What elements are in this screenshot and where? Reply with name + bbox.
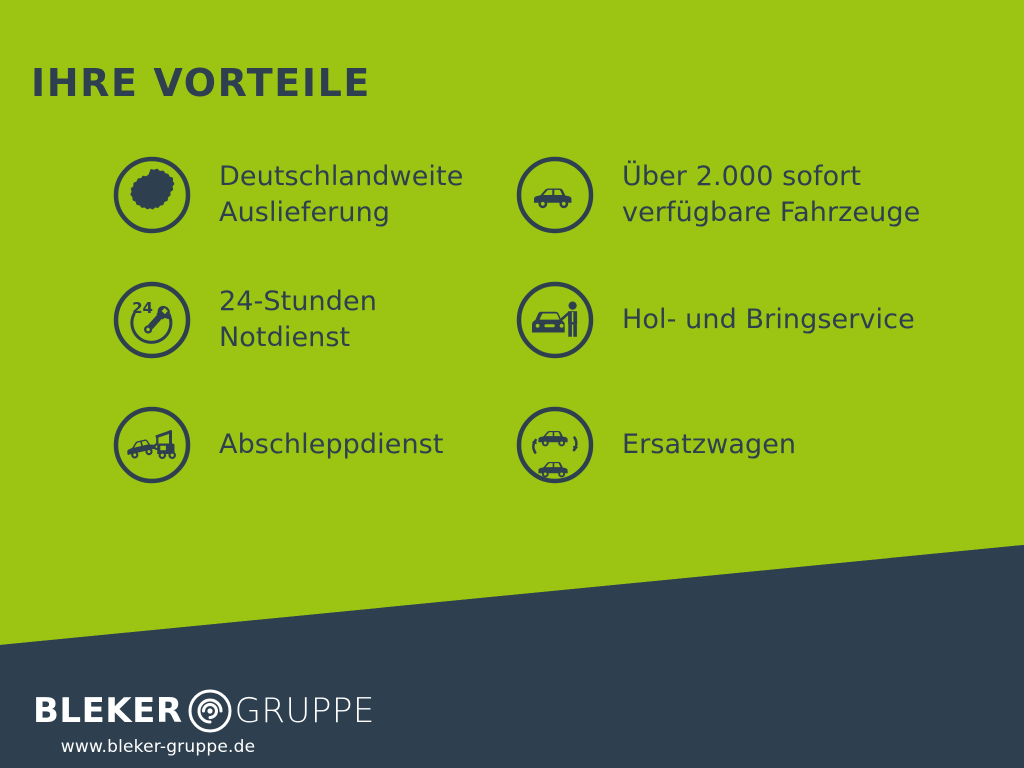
car-with-driver-icon xyxy=(515,280,595,360)
benefit-item-ersatzwagen: Ersatzwagen xyxy=(515,405,796,485)
germany-map-icon xyxy=(112,155,192,235)
car-icon xyxy=(515,155,595,235)
benefit-label: Deutschlandweite Auslieferung xyxy=(219,159,463,230)
footer-logo-block: BLEKER GRUPPE www.bleker-gruppe.de xyxy=(33,690,363,757)
benefit-item-abschleppdienst: Abschleppdienst xyxy=(112,405,444,485)
clock-24-wrench-icon: 24 xyxy=(112,280,192,360)
tow-truck-icon xyxy=(112,405,192,485)
benefit-label: Über 2.000 sofort verfügbare Fahrzeuge xyxy=(622,159,920,230)
benefit-label: Hol- und Bringservice xyxy=(622,302,915,338)
benefit-label: Abschleppdienst xyxy=(219,427,444,463)
benefit-label: Ersatzwagen xyxy=(622,427,796,463)
page-title: IHRE VORTEILE xyxy=(31,64,371,102)
benefit-item-verfuegbare-fahrzeuge: Über 2.000 sofort verfügbare Fahrzeuge xyxy=(515,155,920,235)
slide-root: IHRE VORTEILE Deutschlandweite Ausliefer… xyxy=(0,0,1024,768)
benefit-item-24-stunden-notdienst: 24 24-Stunden Notdienst xyxy=(112,280,377,360)
spiral-icon xyxy=(187,688,233,734)
website-url[interactable]: www.bleker-gruppe.de xyxy=(33,737,283,757)
logo-primary-text: BLEKER xyxy=(33,694,183,728)
logo-secondary-text: GRUPPE xyxy=(235,694,375,728)
benefit-item-deutschlandweite-auslieferung: Deutschlandweite Auslieferung xyxy=(112,155,463,235)
icon-badge-24: 24 xyxy=(132,299,153,317)
benefit-item-hol-und-bringservice: Hol- und Bringservice xyxy=(515,280,915,360)
logo-lockup: BLEKER GRUPPE xyxy=(33,690,363,732)
benefit-label: 24-Stunden Notdienst xyxy=(219,284,377,355)
replacement-car-icon xyxy=(515,405,595,485)
